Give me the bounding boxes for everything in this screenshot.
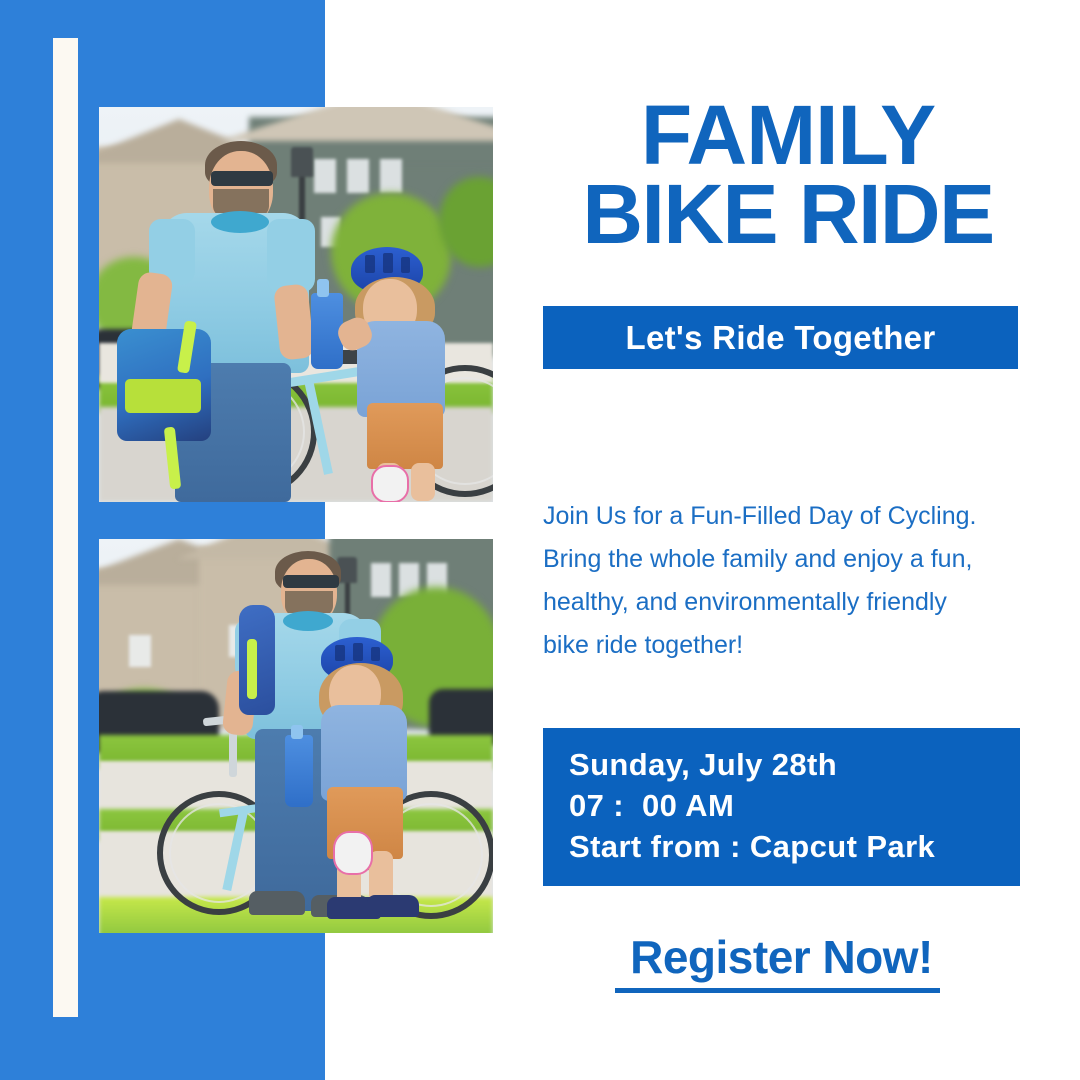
register-now-link[interactable]: Register Now!: [543, 930, 1020, 984]
event-location: Start from : Capcut Park: [569, 826, 1020, 867]
register-now-underline: [615, 988, 940, 993]
description-line-4: bike ride together!: [543, 624, 1013, 667]
description-text: Join Us for a Fun-Filled Day of Cycling.…: [543, 495, 1013, 667]
event-date: Sunday, July 28th: [569, 744, 1020, 785]
description-line-3: healthy, and environmentally friendly: [543, 581, 1013, 624]
register-now-label: Register Now!: [630, 930, 933, 984]
event-time: 07 : 00 AM: [569, 785, 1020, 826]
photo-family-embracing: [99, 539, 493, 933]
event-details-box: Sunday, July 28th 07 : 00 AM Start from …: [543, 728, 1020, 886]
page-title: FAMILY BIKE RIDE: [543, 96, 1033, 254]
subtitle-text: Let's Ride Together: [626, 319, 936, 357]
photo-family-with-backpack: [99, 107, 493, 502]
description-line-1: Join Us for a Fun-Filled Day of Cycling.: [543, 495, 1013, 538]
cream-accent-stripe: [53, 38, 78, 1017]
description-line-2: Bring the whole family and enjoy a fun,: [543, 538, 1013, 581]
subtitle-banner: Let's Ride Together: [543, 306, 1018, 369]
poster-canvas: FAMILY BIKE RIDE Let's Ride Together Joi…: [0, 0, 1080, 1080]
title-line-2: BIKE RIDE: [543, 175, 1033, 254]
